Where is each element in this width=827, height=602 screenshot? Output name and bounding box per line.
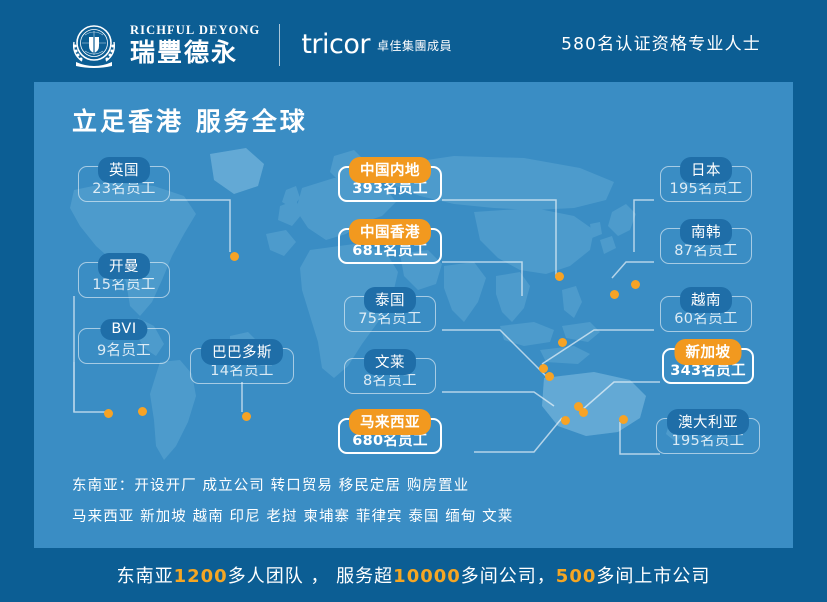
- location-name: 马来西亚: [349, 409, 431, 435]
- map-marker-southkorea: [610, 290, 619, 299]
- location-name: 越南: [680, 287, 732, 313]
- location-name: BVI: [100, 319, 147, 340]
- footer-number-team: 1200: [174, 566, 228, 587]
- location-name: 日本: [680, 157, 732, 183]
- map-marker-japan: [631, 280, 640, 289]
- location-name: 开曼: [98, 253, 150, 279]
- footer-number-listed: 500: [556, 566, 597, 587]
- note-line-services: 东南亚：开设开厂 成立公司 转口贸易 移民定居 购房置业: [72, 474, 513, 495]
- poster-root: RICHFUL DEYONG 瑞豐德永 tricor 卓佳集團成員 580名认证…: [0, 0, 827, 602]
- map-marker-mainland: [555, 272, 564, 281]
- location-name: 澳大利亚: [667, 409, 749, 435]
- header-tagline: 580名认证资格专业人士: [561, 30, 761, 55]
- partner-logo: tricor 卓佳集團成員: [301, 31, 452, 60]
- location-name: 新加坡: [675, 339, 742, 365]
- partner-name: tricor: [301, 31, 370, 58]
- map-panel: 立足香港 服务全球: [34, 82, 793, 548]
- map-marker-singapore: [579, 408, 588, 417]
- location-name: 泰国: [364, 287, 416, 313]
- footer-mid-1: 多人团队 ， 服务超: [228, 566, 393, 587]
- location-name: 中国香港: [349, 219, 431, 245]
- map-marker-vietnam: [539, 364, 548, 373]
- location-name: 南韩: [680, 219, 732, 245]
- map-marker-malaysia: [561, 416, 570, 425]
- footer-prefix: 东南亚: [117, 566, 174, 587]
- map-marker-uk: [230, 252, 239, 261]
- map-marker-hongkong: [558, 338, 567, 347]
- location-name: 文莱: [364, 349, 416, 375]
- location-name: 巴巴多斯: [201, 339, 283, 365]
- bottom-summary-text: 东南亚1200多人团队 ， 服务超10000多间公司，500多间上市公司: [117, 562, 711, 588]
- note-line-countries: 马来西亚 新加坡 越南 印尼 老挝 柬埔寨 菲律宾 泰国 缅甸 文莱: [72, 505, 513, 526]
- map-marker-bvi: [138, 407, 147, 416]
- footer-mid-2: 多间公司，: [461, 566, 556, 587]
- brand-name-cn: 瑞豐德永: [130, 40, 260, 66]
- map-marker-thailand: [545, 372, 554, 381]
- crest-icon: [68, 20, 120, 70]
- footer-number-companies: 10000: [393, 566, 461, 587]
- brand-divider: [279, 24, 280, 66]
- brand-name-en: RICHFUL DEYONG: [130, 24, 260, 37]
- map-marker-barbados: [242, 412, 251, 421]
- map-marker-australia: [619, 415, 628, 424]
- location-name: 英国: [98, 157, 150, 183]
- partner-subtitle: 卓佳集團成員: [377, 37, 452, 58]
- brand-text: RICHFUL DEYONG 瑞豐德永: [130, 24, 260, 66]
- page-header: RICHFUL DEYONG 瑞豐德永 tricor 卓佳集團成員 580名认证…: [0, 0, 827, 82]
- bottom-bar: 东南亚1200多人团队 ， 服务超10000多间公司，500多间上市公司: [0, 548, 827, 602]
- panel-notes: 东南亚：开设开厂 成立公司 转口贸易 移民定居 购房置业 马来西亚 新加坡 越南…: [72, 474, 513, 526]
- footer-suffix: 多间上市公司: [596, 566, 710, 587]
- location-name: 中国内地: [349, 157, 431, 183]
- map-marker-cayman: [104, 409, 113, 418]
- company-logo: RICHFUL DEYONG 瑞豐德永 tricor 卓佳集團成員: [68, 20, 452, 70]
